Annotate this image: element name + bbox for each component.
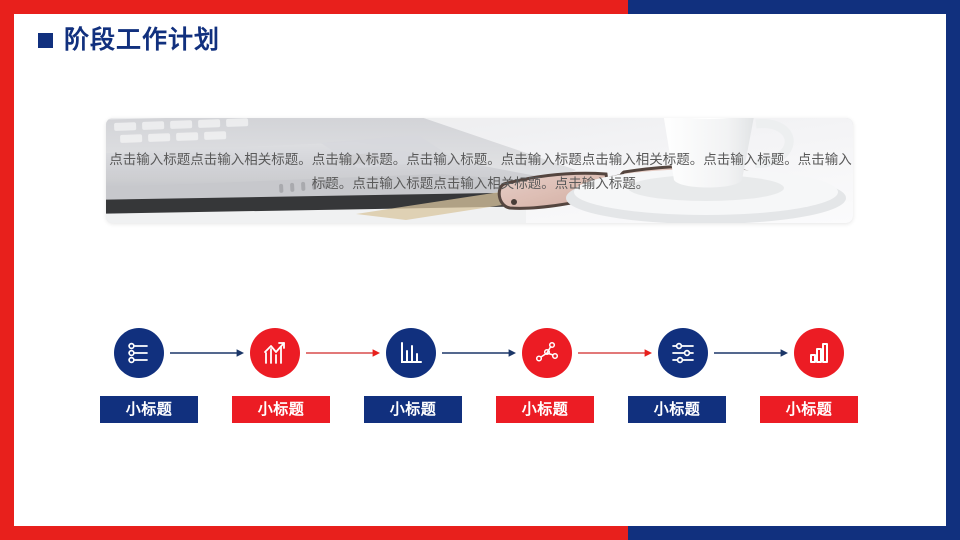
slide-canvas: 阶段工作计划 xyxy=(14,14,946,526)
process-label-6[interactable]: 小标题 xyxy=(760,396,858,423)
process-arrow-4 xyxy=(578,347,652,359)
page-title: 阶段工作计划 xyxy=(38,28,220,53)
process-arrow-5 xyxy=(714,347,788,359)
arrow-right-icon xyxy=(306,347,380,359)
process-step-6[interactable] xyxy=(794,328,844,378)
process-step-5[interactable] xyxy=(658,328,708,378)
process-step-2[interactable] xyxy=(250,328,300,378)
bottom-red-bar xyxy=(0,526,628,540)
square-bullet-icon xyxy=(38,33,53,48)
top-red-bar xyxy=(0,0,628,14)
process-step-3[interactable] xyxy=(386,328,436,378)
process-steps xyxy=(114,324,844,382)
slide-root: 阶段工作计划 xyxy=(0,0,960,540)
settings-list-icon xyxy=(126,340,152,366)
process-step-1[interactable] xyxy=(114,328,164,378)
top-blue-bar xyxy=(628,0,960,14)
process-labels: 小标题 小标题 小标题 小标题 小标题 小标题 xyxy=(100,396,858,423)
process-label-1[interactable]: 小标题 xyxy=(100,396,198,423)
process-label-2[interactable]: 小标题 xyxy=(232,396,330,423)
process-label-5[interactable]: 小标题 xyxy=(628,396,726,423)
arrow-right-icon xyxy=(714,347,788,359)
arrow-right-icon xyxy=(578,347,652,359)
sliders-icon xyxy=(669,339,697,367)
process-arrow-1 xyxy=(170,347,244,359)
left-red-bar xyxy=(0,0,14,540)
process-step-4[interactable] xyxy=(522,328,572,378)
bar-chart-icon xyxy=(398,340,424,366)
process-label-3[interactable]: 小标题 xyxy=(364,396,462,423)
growth-chart-icon xyxy=(261,339,289,367)
network-share-icon xyxy=(534,340,560,366)
arrow-right-icon xyxy=(170,347,244,359)
process-flow: 小标题 小标题 小标题 小标题 小标题 小标题 xyxy=(114,324,844,442)
bottom-blue-bar xyxy=(628,526,960,540)
process-label-4[interactable]: 小标题 xyxy=(496,396,594,423)
right-blue-bar xyxy=(946,0,960,540)
body-paragraph: 点击输入标题点击输入相关标题。点击输入标题。点击输入标题。点击输入标题点击输入相… xyxy=(108,148,853,198)
process-arrow-3 xyxy=(442,347,516,359)
arrow-right-icon xyxy=(442,347,516,359)
page-title-text: 阶段工作计划 xyxy=(64,28,220,53)
process-arrow-2 xyxy=(306,347,380,359)
bar-graph-icon xyxy=(806,340,832,366)
